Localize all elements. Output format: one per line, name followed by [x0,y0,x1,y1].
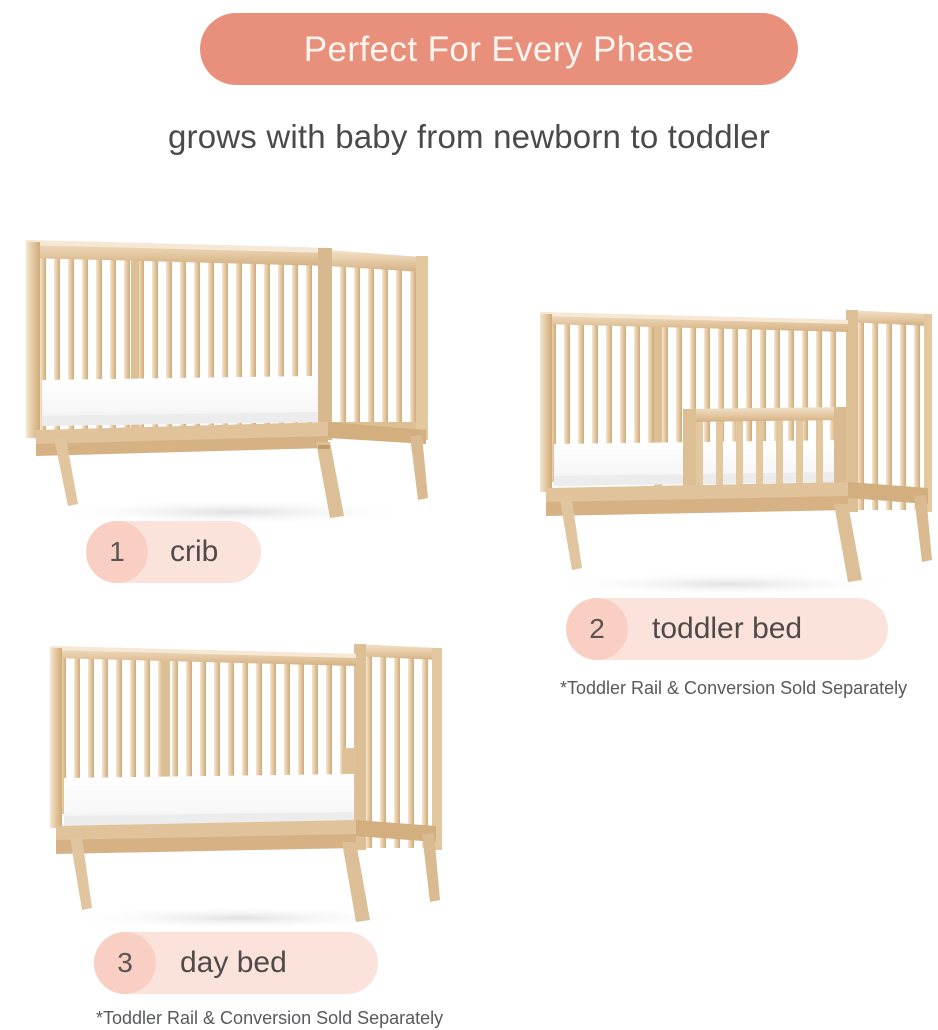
phase-badge-day-bed: 3 day bed [94,932,378,994]
footnote-toddler-bed: *Toddler Rail & Conversion Sold Separate… [560,678,907,699]
phase-number-1: 1 [86,521,148,583]
footnote-day-bed: *Toddler Rail & Conversion Sold Separate… [96,1008,443,1029]
day-bed-illustration [38,628,442,928]
phase-number-2: 2 [566,598,628,660]
phase-label-toddler-bed: toddler bed [652,612,802,646]
crib-illustration [18,226,438,526]
phase-label-day-bed: day bed [180,946,287,980]
page-title: Perfect For Every Phase [304,32,694,67]
phase-label-crib: crib [170,535,218,569]
toddler-bed-illustration [528,296,932,596]
title-pill: Perfect For Every Phase [200,13,798,85]
phase-number-3: 3 [94,932,156,994]
phase-badge-toddler-bed: 2 toddler bed [566,598,888,660]
infographic-page: Perfect For Every Phase grows with baby … [0,0,938,1030]
page-subtitle: grows with baby from newborn to toddler [0,118,938,156]
phase-badge-crib: 1 crib [86,521,261,583]
